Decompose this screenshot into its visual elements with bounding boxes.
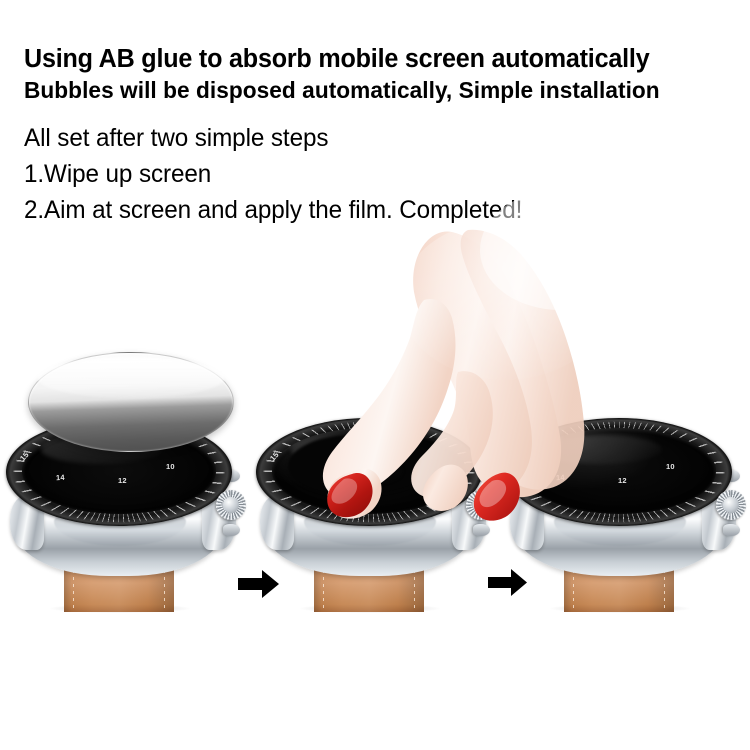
watch-pusher-bottom bbox=[723, 524, 740, 536]
step-1-text: 1.Wipe up screen bbox=[24, 156, 713, 192]
watch-crown bbox=[466, 490, 496, 520]
watch-pusher-bottom bbox=[223, 524, 240, 536]
watch-crown bbox=[216, 490, 246, 520]
headline-primary: Using AB glue to absorb mobile screen au… bbox=[24, 44, 723, 75]
step-3-watch-complete: 15 14 12 10 bbox=[498, 400, 748, 650]
dial-glare bbox=[541, 435, 661, 464]
bezel-number-12: 12 bbox=[618, 476, 627, 485]
instruction-text-block: Using AB glue to absorb mobile screen au… bbox=[24, 44, 734, 228]
steps-intro: All set after two simple steps bbox=[24, 120, 713, 156]
bezel-number-10: 10 bbox=[666, 462, 675, 471]
steps-text-list: All set after two simple steps 1.Wipe up… bbox=[24, 120, 734, 228]
installation-illustration: 15 14 12 10 15 14 12 10 bbox=[0, 400, 750, 660]
step-2-watch-pressed: 15 14 12 10 bbox=[248, 400, 498, 650]
film-sheen bbox=[37, 357, 225, 398]
watch-dial-screen bbox=[522, 428, 716, 514]
bezel-number-12: 12 bbox=[118, 476, 127, 485]
step-1-watch-with-film: 15 14 12 10 bbox=[0, 400, 248, 650]
watch-pusher-bottom bbox=[473, 524, 490, 536]
watch-crown bbox=[716, 490, 746, 520]
hand-light-wash bbox=[400, 220, 610, 380]
bezel-number-10: 10 bbox=[166, 462, 175, 471]
step-2-text: 2.Aim at screen and apply the film. Comp… bbox=[24, 192, 713, 228]
bezel-number-14: 14 bbox=[56, 473, 65, 482]
bezel-number-14: 14 bbox=[556, 473, 565, 482]
screen-protector-film-icon bbox=[28, 352, 234, 452]
headline-secondary: Bubbles will be disposed automatically, … bbox=[24, 75, 723, 106]
arrow-step2-to-step3 bbox=[488, 568, 528, 597]
arrow-step1-to-step2 bbox=[238, 569, 280, 599]
